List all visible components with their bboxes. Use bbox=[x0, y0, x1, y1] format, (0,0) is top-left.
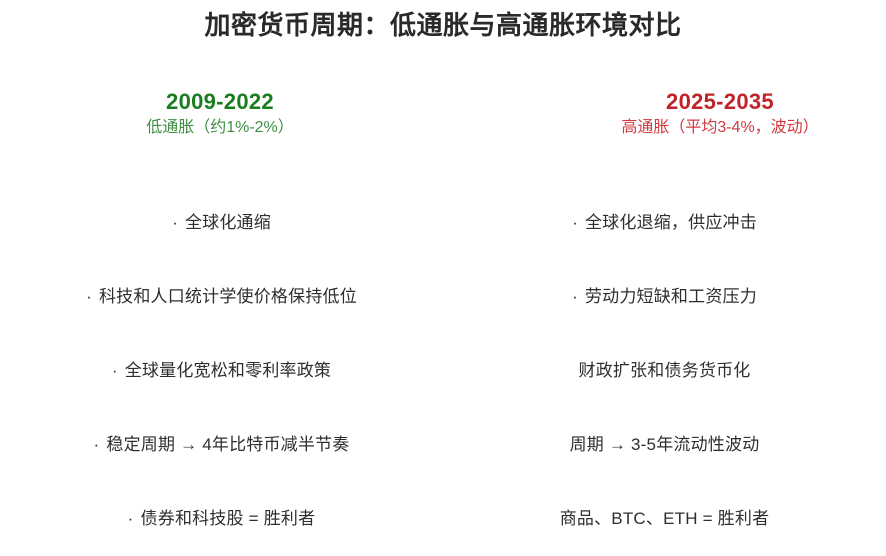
row-label-left: 全球化通缩 bbox=[185, 213, 271, 232]
row-cell-left: ·债券和科技股 = 胜利者 bbox=[0, 482, 443, 556]
bullet-icon: · bbox=[94, 432, 100, 458]
page-title: 加密货币周期：低通胀与高通胀环境对比 bbox=[204, 8, 681, 42]
bullet-icon: · bbox=[112, 358, 118, 384]
comparison-row: ·全球化通缩 ·全球化退缩，供应冲击 bbox=[0, 186, 886, 260]
row-cell-left: ·稳定周期 → 4年比特币减半节奏 bbox=[0, 408, 443, 482]
row-label-right: 全球化退缩，供应冲击 bbox=[585, 213, 757, 232]
row-cell-right: ·劳动力短缺和工资压力 bbox=[443, 260, 886, 334]
row-text-left: ·债券和科技股 = 胜利者 bbox=[128, 506, 316, 533]
bullet-icon: · bbox=[572, 210, 578, 236]
bullet-icon: · bbox=[572, 284, 578, 310]
row-text-right: ·劳动力短缺和工资压力 bbox=[572, 284, 757, 311]
row-label-right: 周期 → 3-5年流动性波动 bbox=[570, 435, 760, 454]
comparison-row: ·债券和科技股 = 胜利者 ·商品、BTC、ETH = 胜利者 bbox=[0, 482, 886, 556]
row-label-left: 债券和科技股 = 胜利者 bbox=[141, 509, 316, 528]
comparison-row: ·科技和人口统计学使价格保持低位 ·劳动力短缺和工资压力 bbox=[0, 260, 886, 334]
row-label-left: 科技和人口统计学使价格保持低位 bbox=[99, 287, 357, 306]
row-cell-right: ·周期 → 3-5年流动性波动 bbox=[443, 408, 886, 482]
row-text-right: ·全球化退缩，供应冲击 bbox=[572, 210, 757, 237]
row-cell-left: ·科技和人口统计学使价格保持低位 bbox=[0, 260, 443, 334]
row-text-right: ·商品、BTC、ETH = 胜利者 bbox=[560, 506, 770, 532]
comparison-row: ·全球量化宽松和零利率政策 ·财政扩张和债务货币化 bbox=[0, 334, 886, 408]
row-text-left: ·稳定周期 → 4年比特币减半节奏 bbox=[94, 432, 350, 459]
column-subtitle-right: 高通胀（平均3-4%，波动） bbox=[520, 116, 886, 139]
comparison-row: ·稳定周期 → 4年比特币减半节奏 ·周期 → 3-5年流动性波动 bbox=[0, 408, 886, 482]
row-cell-right: ·商品、BTC、ETH = 胜利者 bbox=[443, 482, 886, 556]
row-label-left: 稳定周期 → 4年比特币减半节奏 bbox=[106, 435, 349, 454]
column-header-low-inflation: 2009-2022 低通胀（约1%-2%） bbox=[30, 88, 410, 139]
row-cell-left: ·全球化通缩 bbox=[0, 186, 443, 260]
row-text-right: ·财政扩张和债务货币化 bbox=[579, 358, 751, 384]
row-label-left: 全球量化宽松和零利率政策 bbox=[125, 361, 331, 380]
row-text-left: ·全球化通缩 bbox=[172, 210, 271, 237]
row-text-left: ·科技和人口统计学使价格保持低位 bbox=[86, 284, 357, 311]
column-header-high-inflation: 2025-2035 高通胀（平均3-4%，波动） bbox=[520, 88, 886, 139]
comparison-slide: 加密货币周期：低通胀与高通胀环境对比 2009-2022 低通胀（约1%-2%）… bbox=[0, 0, 886, 554]
row-cell-right: ·财政扩张和债务货币化 bbox=[443, 334, 886, 408]
bullet-icon: · bbox=[172, 210, 178, 236]
row-label-right: 劳动力短缺和工资压力 bbox=[585, 287, 757, 306]
column-period-right: 2025-2035 bbox=[520, 88, 886, 115]
bullet-icon: · bbox=[86, 284, 92, 310]
comparison-rows: ·全球化通缩 ·全球化退缩，供应冲击 ·科技和人口统计学使价格保持低位 ·劳动力… bbox=[0, 186, 886, 556]
bullet-icon: · bbox=[128, 506, 134, 532]
row-cell-right: ·全球化退缩，供应冲击 bbox=[443, 186, 886, 260]
column-period-left: 2009-2022 bbox=[30, 88, 410, 115]
title-bar: 加密货币周期：低通胀与高通胀环境对比 bbox=[0, 8, 886, 42]
row-text-right: ·周期 → 3-5年流动性波动 bbox=[570, 432, 760, 458]
row-label-right: 财政扩张和债务货币化 bbox=[579, 361, 751, 380]
column-subtitle-left: 低通胀（约1%-2%） bbox=[30, 116, 410, 139]
row-text-left: ·全球量化宽松和零利率政策 bbox=[112, 358, 331, 385]
row-label-right: 商品、BTC、ETH = 胜利者 bbox=[560, 509, 770, 528]
row-cell-left: ·全球量化宽松和零利率政策 bbox=[0, 334, 443, 408]
